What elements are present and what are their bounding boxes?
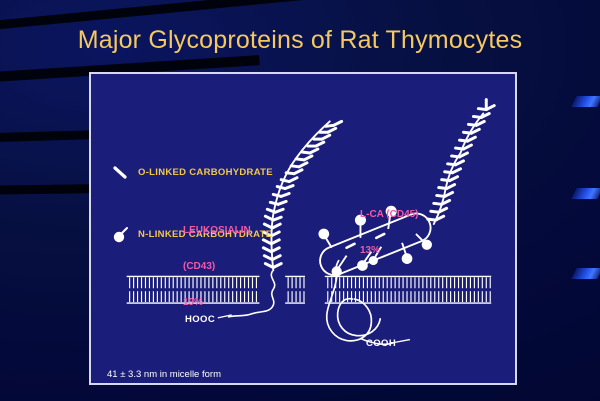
protein-label-cd45: L-CA (CD45) 13% bbox=[360, 185, 419, 281]
cd43-percent: 19% bbox=[183, 297, 251, 309]
cd43-alias: (CD43) bbox=[183, 261, 251, 273]
ribbon-accent-middle bbox=[571, 188, 600, 199]
legend-item-o-linked: O-LINKED CARBOHYDRATE bbox=[113, 164, 149, 182]
cd45-name: L-CA (CD45) bbox=[360, 209, 419, 221]
page-title: Major Glycoproteins of Rat Thymocytes bbox=[0, 26, 600, 55]
o-linked-stroke-icon bbox=[113, 165, 129, 181]
cd45-o-glycans bbox=[428, 100, 494, 220]
ribbon-accent-top bbox=[571, 96, 600, 107]
legend: O-LINKED CARBOHYDRATE N-LINKED CARBOHYDR… bbox=[113, 128, 149, 279]
lipid-bilayer bbox=[127, 276, 492, 303]
n-linked-lollipop-icon bbox=[113, 226, 131, 244]
legend-item-n-linked: N-LINKED CARBOHYDRATE bbox=[113, 225, 149, 243]
measurement-notes: 41 ± 3.3 nm in micelle form 49.3 ± 7.7 n… bbox=[107, 344, 239, 401]
legend-label-o-linked: O-LINKED CARBOHYDRATE bbox=[138, 167, 273, 178]
cd43-name: LEUKOSIALIN bbox=[183, 225, 251, 237]
cd45-percent: 13% bbox=[360, 245, 419, 257]
ribbon-accent-bottom bbox=[571, 268, 600, 279]
measurement-note-micelle: 41 ± 3.3 nm in micelle form bbox=[107, 369, 239, 382]
slide-canvas: Major Glycoproteins of Rat Thymocytes bbox=[0, 0, 600, 401]
terminal-label-hooc: HOOC bbox=[185, 314, 215, 325]
figure-panel: O-LINKED CARBOHYDRATE N-LINKED CARBOHYDR… bbox=[89, 72, 517, 385]
terminal-label-cooh: COOH bbox=[366, 338, 396, 349]
